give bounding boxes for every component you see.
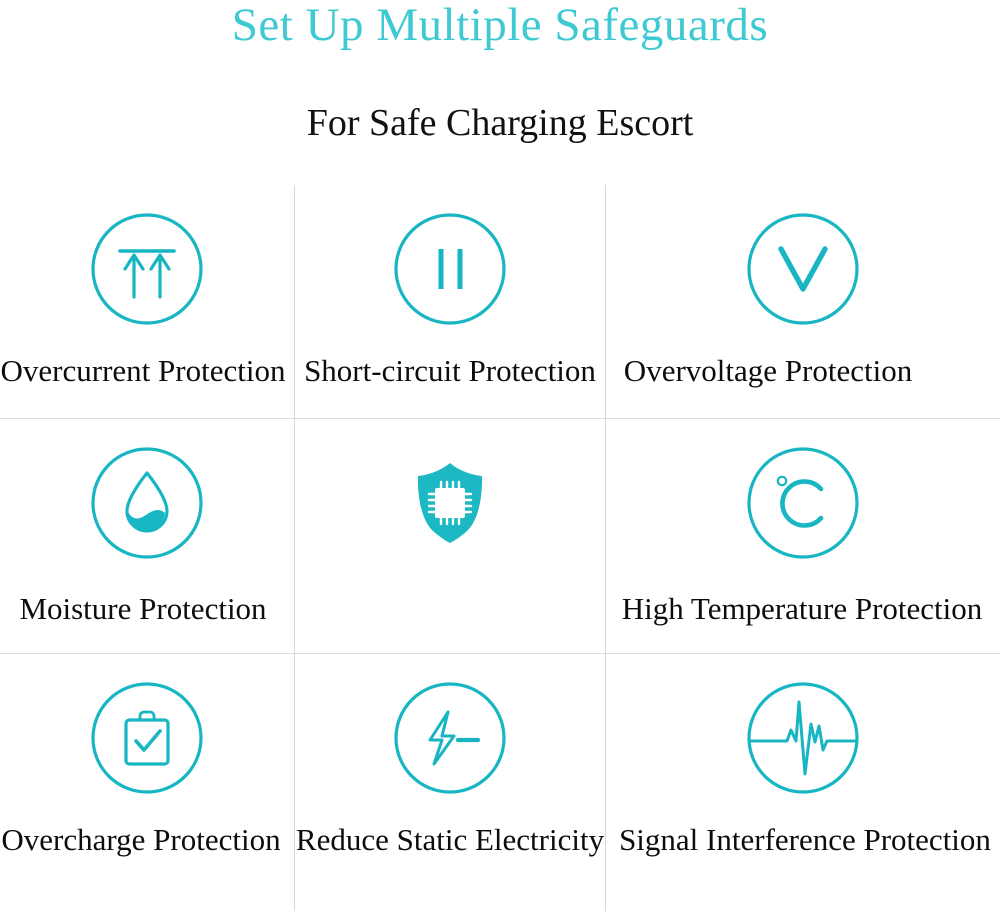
lightning-bolt-minus-icon xyxy=(384,672,516,804)
page-title: Set Up Multiple Safeguards xyxy=(0,0,1000,54)
waveform-pulse-icon xyxy=(737,672,869,804)
feature-cell-overcurrent: Overcurrent Protection xyxy=(0,185,294,420)
feature-cell-static-electricity: Reduce Static Electricity xyxy=(294,654,605,889)
v-chevron-icon xyxy=(737,203,869,335)
feature-label-short-circuit: Short-circuit Protection xyxy=(304,351,596,391)
feature-label-high-temperature: High Temperature Protection xyxy=(622,589,983,629)
water-droplet-icon xyxy=(81,437,213,569)
feature-cell-overvoltage: Overvoltage Protection xyxy=(605,185,1000,420)
shield-with-chip-icon xyxy=(384,437,516,569)
page-subtitle: For Safe Charging Escort xyxy=(0,98,1000,148)
feature-label-signal-interference: Signal Interference Protection xyxy=(619,820,991,860)
feature-label-overvoltage: Overvoltage Protection xyxy=(624,351,912,391)
feature-label-moisture: Moisture Protection xyxy=(19,589,266,629)
safeguards-infographic: Set Up Multiple Safeguards For Safe Char… xyxy=(0,0,1000,911)
degrees-celsius-icon xyxy=(737,437,869,569)
feature-cell-moisture: Moisture Protection xyxy=(0,419,294,654)
feature-cell-short-circuit: Short-circuit Protection xyxy=(294,185,605,420)
two-vertical-bars-icon xyxy=(384,203,516,335)
feature-cell-chip-shield xyxy=(294,419,605,654)
feature-cell-overcharge: Overcharge Protection xyxy=(0,654,294,889)
feature-cell-high-temperature: High Temperature Protection xyxy=(605,419,1000,654)
safeguards-grid: Overcurrent Protection Short-circuit Pro… xyxy=(0,185,1000,911)
clipboard-check-icon xyxy=(81,672,213,804)
feature-label-overcharge: Overcharge Protection xyxy=(1,820,280,860)
feature-label-overcurrent: Overcurrent Protection xyxy=(1,351,286,391)
feature-label-static-electricity: Reduce Static Electricity xyxy=(296,820,604,860)
feature-cell-signal-interference: Signal Interference Protection xyxy=(605,654,1000,889)
two-up-arrows-to-bar-icon xyxy=(81,203,213,335)
